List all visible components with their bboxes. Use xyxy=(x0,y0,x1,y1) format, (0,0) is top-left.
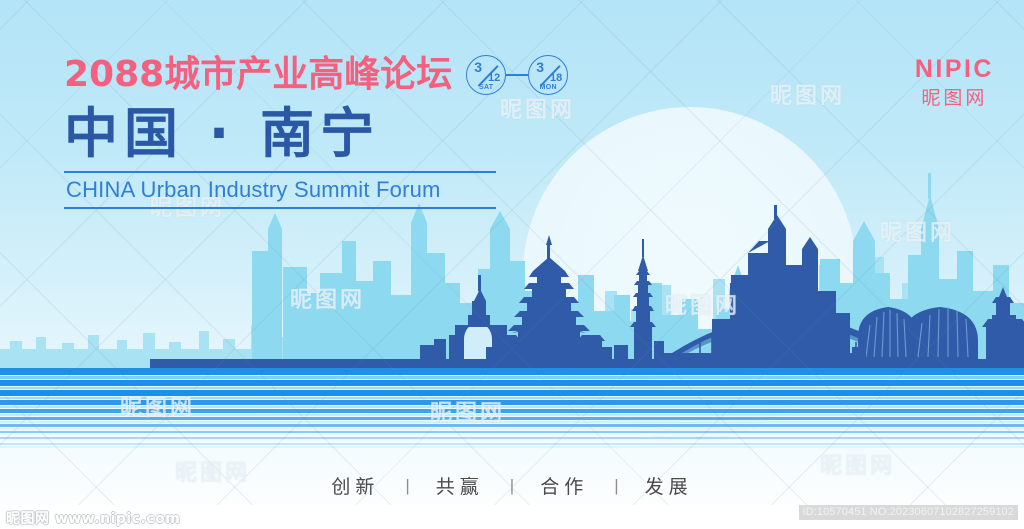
slogan-separator: | xyxy=(614,476,618,496)
poster-canvas: 昵图网 昵图网 昵图网 昵图网 昵图网 昵图网 昵图网 昵图网 昵图网 昵图网 … xyxy=(0,0,1024,529)
date-month: 3 xyxy=(536,60,544,74)
footer-site-watermark: 昵图网 www.nipic.com xyxy=(6,508,180,528)
date-badge-group: 3 12 SAT 3 18 MON xyxy=(466,55,568,95)
date-connector-line xyxy=(506,74,528,76)
slogan-item-4: 发展 xyxy=(645,472,693,499)
slogan-item-3: 合作 xyxy=(540,472,588,499)
brand-logo: NIPIC 昵图网 xyxy=(915,56,994,112)
footer-id-label: ID:10570451 NO:20230607102827259102 xyxy=(799,505,1018,520)
slogan-item-2: 共赢 xyxy=(436,472,484,499)
headline-block: 2088城市产业高峰论坛 3 12 SAT 3 18 MON 中国 · 南宁 xyxy=(64,52,664,209)
english-title: CHINA Urban Industry Summit Forum xyxy=(64,173,496,207)
date-badge-start: 3 12 SAT xyxy=(466,55,506,95)
city-title: 中国 · 南宁 xyxy=(64,104,664,164)
date-day: 12 xyxy=(488,73,500,84)
slogan-separator: | xyxy=(510,476,514,496)
main-title: 2088城市产业高峰论坛 xyxy=(64,57,452,93)
footer-bar: 昵图网 www.nipic.com ID:10570451 NO:2023060… xyxy=(0,505,1024,529)
headline-row-top: 2088城市产业高峰论坛 3 12 SAT 3 18 MON xyxy=(64,52,664,98)
date-month: 3 xyxy=(474,60,482,74)
date-badge-end: 3 18 MON xyxy=(528,55,568,95)
slogan-bar: 创新 | 共赢 | 合作 | 发展 xyxy=(0,472,1024,499)
date-weekday: MON xyxy=(529,84,567,91)
english-title-block: CHINA Urban Industry Summit Forum xyxy=(64,171,496,208)
slogan-item-1: 创新 xyxy=(331,472,379,499)
brand-name-en: NIPIC xyxy=(915,56,994,84)
rule-below-english-title xyxy=(64,207,496,209)
brand-name-cn: 昵图网 xyxy=(915,84,994,113)
date-day: 18 xyxy=(550,73,562,84)
date-weekday: SAT xyxy=(467,84,505,91)
slogan-separator: | xyxy=(405,476,409,496)
